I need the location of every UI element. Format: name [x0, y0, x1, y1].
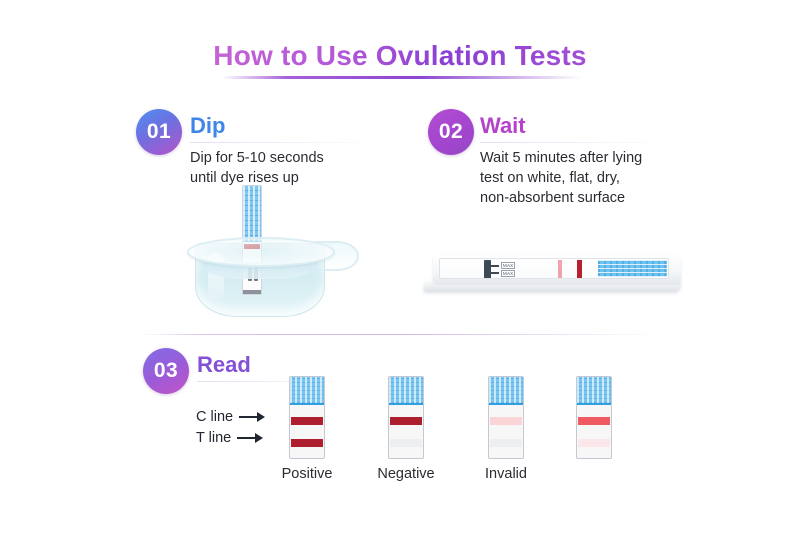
strip-printed-cap	[389, 377, 423, 405]
result-label-invalid: Invalid	[470, 466, 542, 482]
right-arrow-icon	[237, 433, 263, 443]
t-line-callout: T line	[196, 430, 263, 446]
result-strip-invalid	[488, 376, 524, 459]
infographic-canvas: How to Use Ovulation Tests 01 Dip Dip fo…	[0, 0, 800, 533]
step-01-body: Dip for 5-10 seconds until dye rises up	[190, 148, 390, 188]
title-underline	[222, 76, 582, 79]
step-02-heading: Wait	[480, 113, 526, 139]
max-tick-upper	[491, 265, 499, 267]
max-label-upper: MAX	[501, 262, 515, 269]
result-strip-negative	[388, 376, 424, 459]
step-02-number-badge: 02	[428, 109, 474, 155]
step-01-number-badge: 01	[136, 109, 182, 155]
flat-test-strip: MAX MAX	[439, 258, 669, 279]
flat-strip-c-line	[577, 260, 582, 279]
strip-printed-cap	[290, 377, 324, 405]
strip-printed-cap	[489, 377, 523, 405]
step-03-heading: Read	[197, 352, 251, 378]
right-arrow-icon	[239, 412, 265, 422]
c-line-label: C line	[196, 409, 233, 425]
cup-rim	[187, 237, 335, 267]
dip-illustration	[185, 185, 355, 320]
step-01-heading-rule	[190, 142, 380, 143]
strip-dark-bar	[484, 260, 491, 279]
t-line-band	[578, 439, 610, 447]
c-line-callout: C line	[196, 409, 265, 425]
max-tick-lower	[491, 272, 499, 274]
result-label-negative: Negative	[366, 466, 446, 482]
t-line-band	[291, 439, 323, 447]
page-title-wrap: How to Use Ovulation Tests	[0, 40, 800, 72]
c-line-band	[390, 417, 422, 425]
step-02-heading-rule	[480, 142, 670, 143]
result-label-positive: Positive	[269, 466, 345, 482]
max-label-lower: MAX	[501, 270, 515, 277]
c-line-band	[578, 417, 610, 425]
step-03-number-badge: 03	[143, 348, 189, 394]
wait-illustration: MAX MAX	[425, 245, 685, 305]
flat-strip-printed-end	[598, 260, 667, 277]
c-line-band	[291, 417, 323, 425]
result-strip-unlabeled	[576, 376, 612, 459]
step-02-body: Wait 5 minutes after lying test on white…	[480, 148, 695, 208]
t-line-band	[490, 439, 522, 447]
result-strip-positive	[289, 376, 325, 459]
step-01-heading: Dip	[190, 113, 225, 139]
t-line-band	[390, 439, 422, 447]
c-line-band	[490, 417, 522, 425]
flat-strip-t-line	[558, 260, 562, 279]
section-divider	[140, 334, 660, 335]
strip-absorbent-tip	[243, 290, 261, 294]
strip-printed-cap	[577, 377, 611, 405]
t-line-label: T line	[196, 430, 231, 446]
strip-printed-cap	[243, 186, 261, 242]
step-03-heading-rule	[197, 381, 357, 382]
page-title: How to Use Ovulation Tests	[213, 40, 586, 72]
